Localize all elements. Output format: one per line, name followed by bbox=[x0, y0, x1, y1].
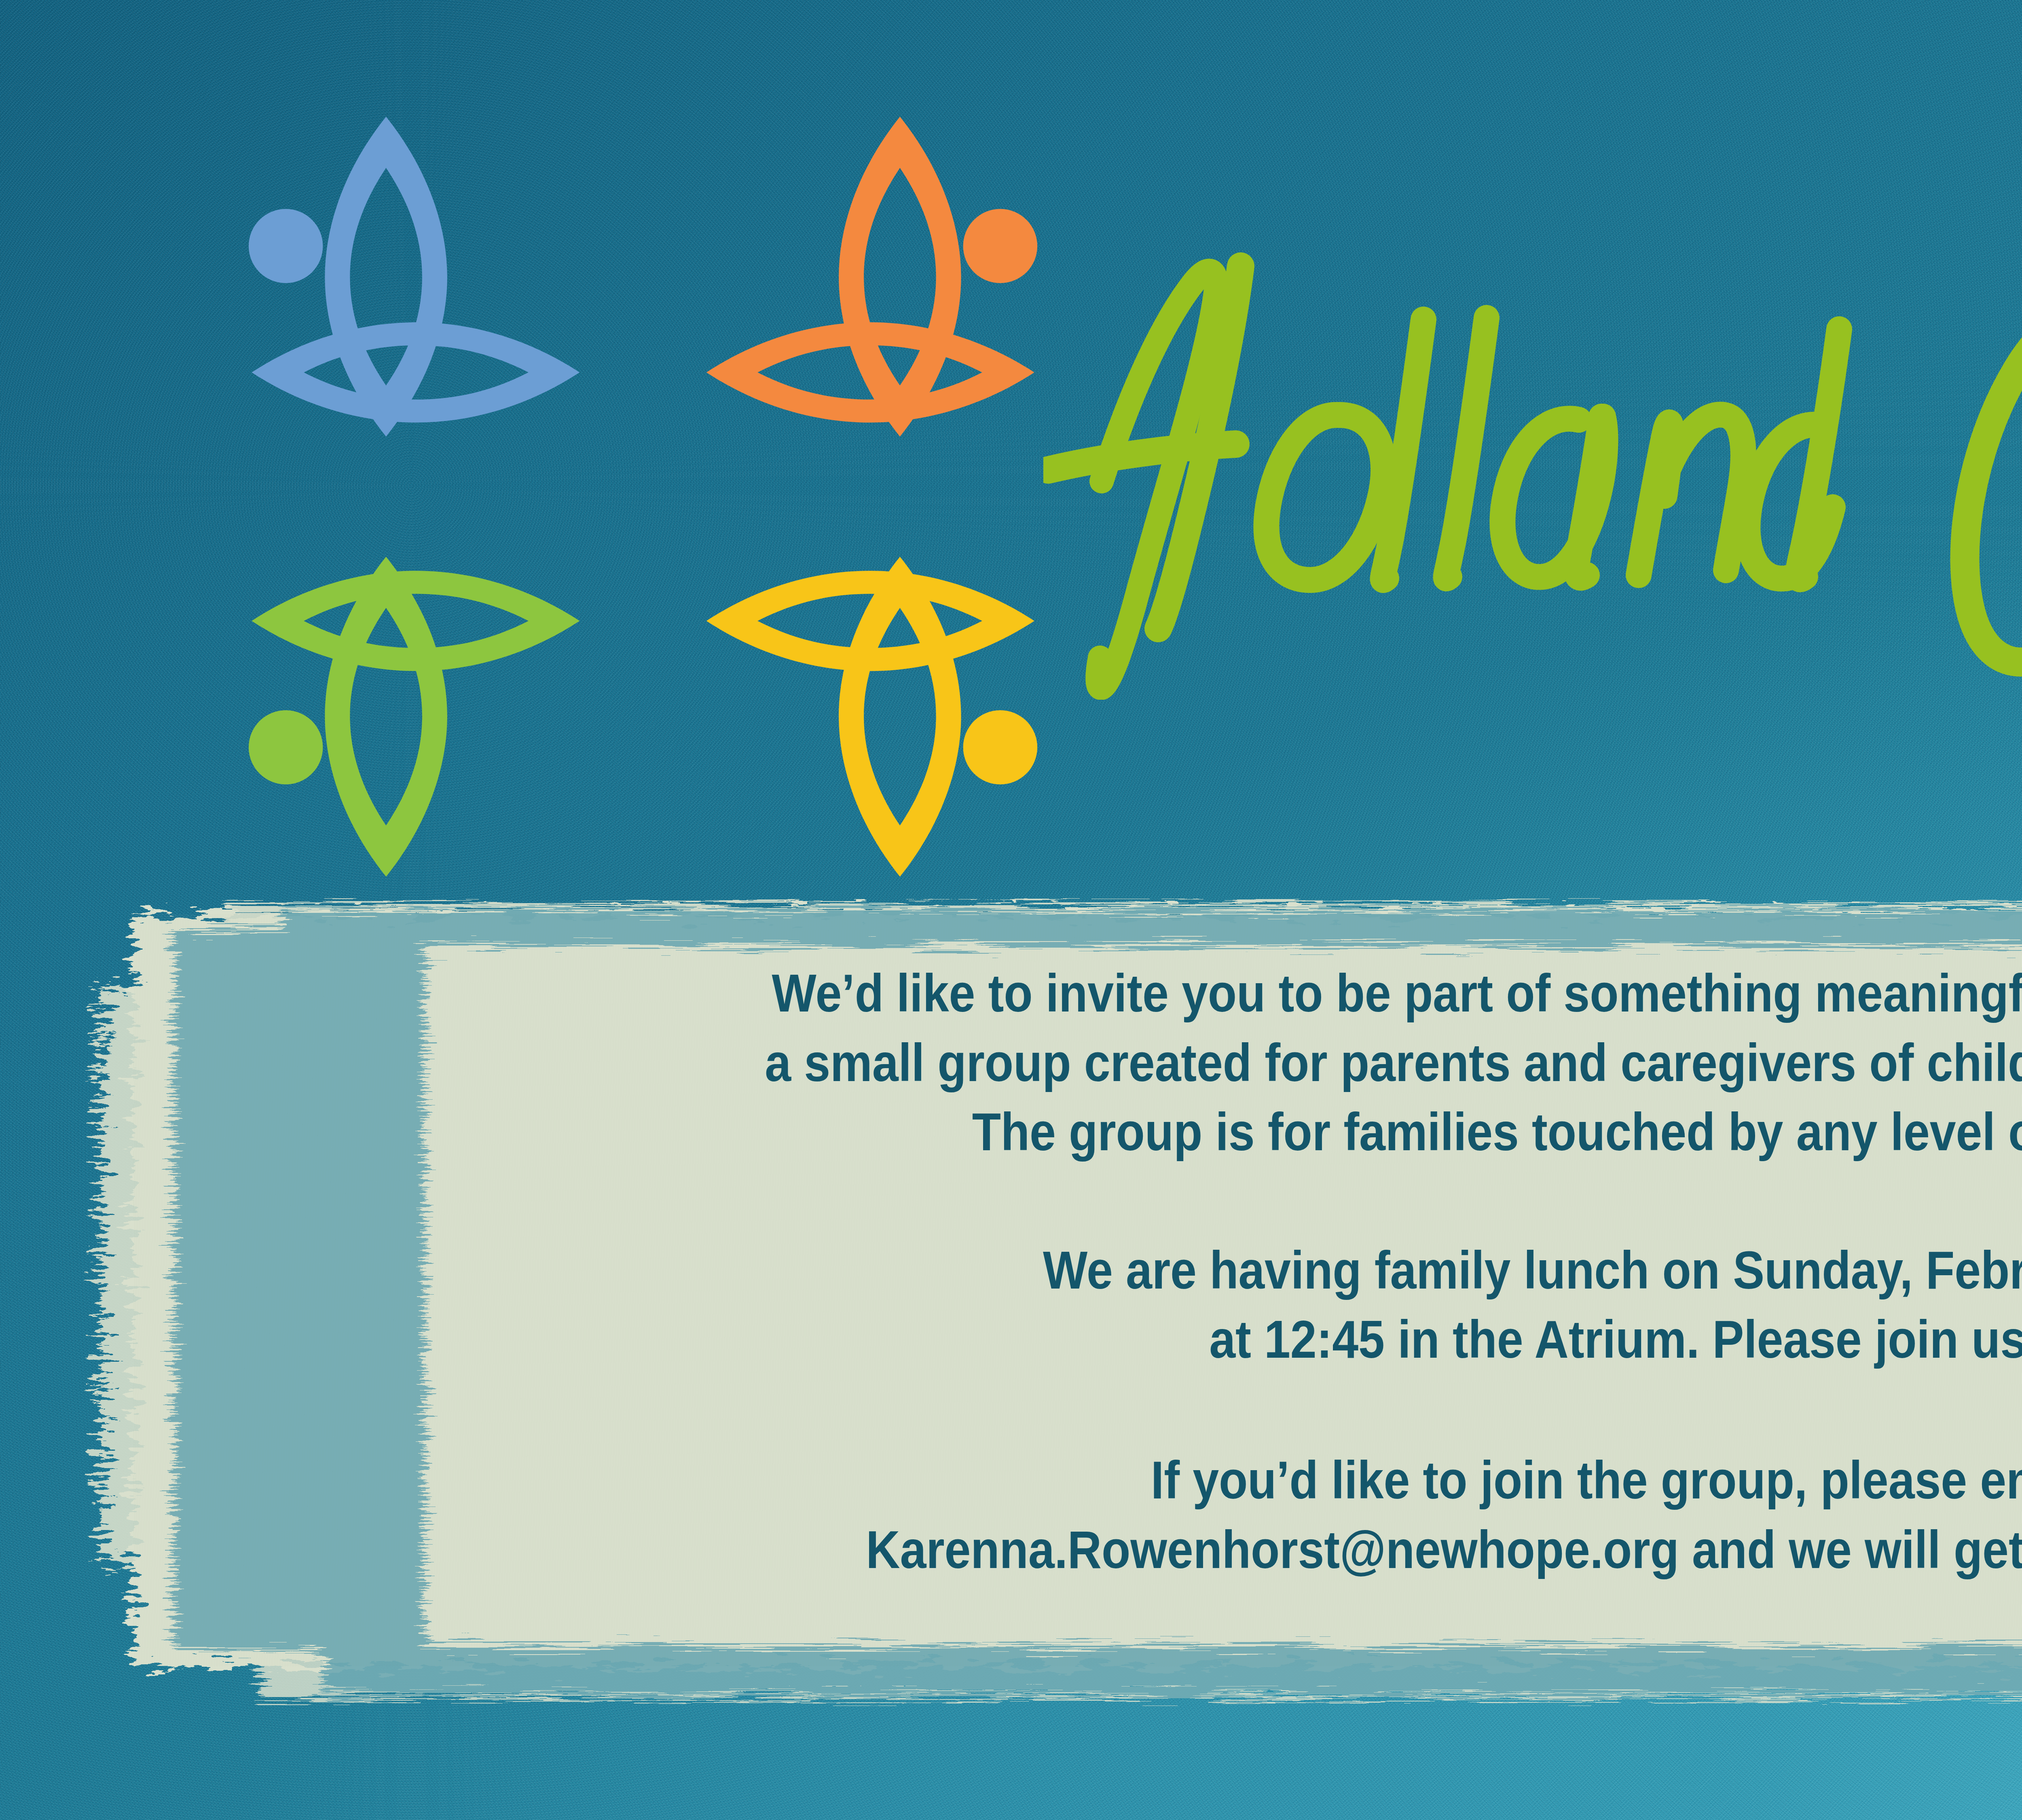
event-line-1: We are having family lunch on Sunday, Fe… bbox=[387, 1236, 2022, 1305]
paragraph-event-details: We are having family lunch on Sunday, Fe… bbox=[387, 1236, 2022, 1374]
logo-petal-bottom-right bbox=[706, 557, 1037, 876]
holland-connect-logo bbox=[226, 89, 1060, 898]
contact-email-line: Karenna.Rowenhorst@newhope.org and we wi… bbox=[387, 1515, 2022, 1585]
copy-spacer-2 bbox=[226, 1374, 2022, 1445]
invitation-copy: We’d like to invite you to be part of so… bbox=[226, 959, 2022, 1584]
logo-petal-top-left bbox=[249, 116, 580, 436]
event-line-2: at 12:45 in the Atrium. Please join us! bbox=[387, 1305, 2022, 1374]
wordmark-holland-connect bbox=[1043, 214, 2022, 700]
intro-line-3: The group is for families touched by any… bbox=[387, 1097, 2022, 1167]
intro-line-2: a small group created for parents and ca… bbox=[387, 1028, 2022, 1098]
paragraph-intro: We’d like to invite you to be part of so… bbox=[387, 959, 2022, 1167]
logo-petal-bottom-left bbox=[249, 557, 580, 876]
copy-spacer-1 bbox=[226, 1167, 2022, 1236]
logo-petal-top-right bbox=[706, 116, 1037, 436]
intro-line-1: We’d like to invite you to be part of so… bbox=[387, 959, 2022, 1028]
contact-line-1: If you’d like to join the group, please … bbox=[387, 1445, 2022, 1515]
paragraph-contact: If you’d like to join the group, please … bbox=[387, 1445, 2022, 1584]
